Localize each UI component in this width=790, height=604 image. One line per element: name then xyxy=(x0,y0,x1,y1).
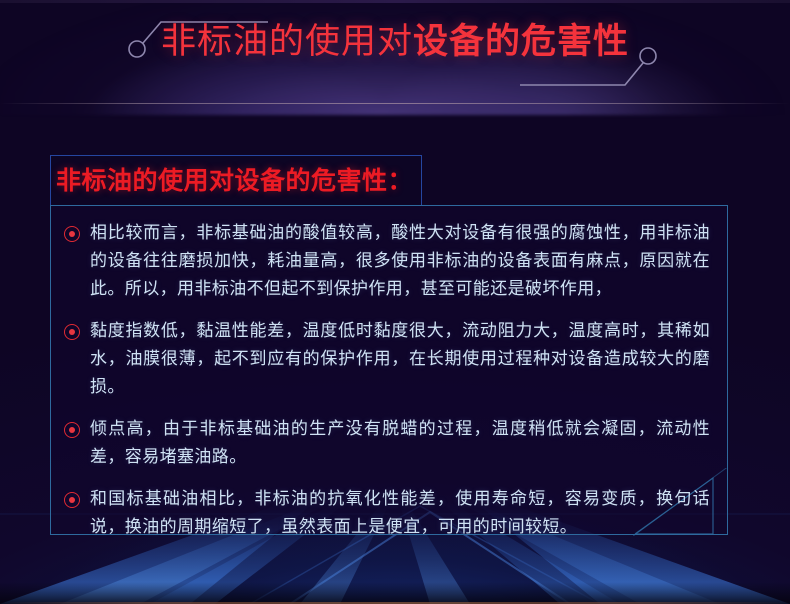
list-item: 相比较而言，非标基础油的酸值较高，酸性大对设备有很强的腐蚀性，用非标油的设备往往… xyxy=(50,219,728,303)
content-panel: 相比较而言，非标基础油的酸值较高，酸性大对设备有很强的腐蚀性，用非标油的设备往往… xyxy=(50,205,728,535)
page-title-bold: 设备的危害性 xyxy=(413,22,629,62)
horizon-line xyxy=(0,103,790,104)
promo-banner: 非标油的使用对设备的危害性 非标油的使用对设备的危害性： 相比较而言，非标基础油… xyxy=(0,0,790,604)
floor-shadow xyxy=(0,582,790,604)
list-item-text: 黏度指数低，黏温性能差，温度低时黏度很大，流动阻力大，温度高时，其稀如水，油膜很… xyxy=(90,317,710,401)
list-item: 倾点高，由于非标基础油的生产没有脱蜡的过程，温度稍低就会凝固，流动性差，容易堵塞… xyxy=(50,415,728,471)
list-item-text: 相比较而言，非标基础油的酸值较高，酸性大对设备有很强的腐蚀性，用非标油的设备往往… xyxy=(90,219,710,303)
list-item: 黏度指数低，黏温性能差，温度低时黏度很大，流动阻力大，温度高时，其稀如水，油膜很… xyxy=(50,317,728,401)
list-item-text: 倾点高，由于非标基础油的生产没有脱蜡的过程，温度稍低就会凝固，流动性差，容易堵塞… xyxy=(90,415,710,471)
bullet-list: 相比较而言，非标基础油的酸值较高，酸性大对设备有很强的腐蚀性，用非标油的设备往往… xyxy=(50,205,728,555)
banner-header: 非标油的使用对设备的危害性 xyxy=(0,0,790,100)
list-item-text: 和国标基础油相比，非标油的抗氧化性能差，使用寿命短，容易变质，换句话说，换油的周… xyxy=(90,485,710,541)
deco-line-right xyxy=(520,63,643,85)
list-item: 和国标基础油相比，非标油的抗氧化性能差，使用寿命短，容易变质，换句话说，换油的周… xyxy=(50,485,728,541)
bullet-dot-icon xyxy=(64,422,80,438)
bullet-dot-icon xyxy=(64,324,80,340)
bullet-dot-icon xyxy=(64,492,80,508)
page-title: 非标油的使用对设备的危害性 xyxy=(0,20,790,64)
bullet-dot-icon xyxy=(64,226,80,242)
panel-heading: 非标油的使用对设备的危害性： xyxy=(56,164,413,198)
page-title-plain: 非标油的使用对 xyxy=(161,22,413,62)
